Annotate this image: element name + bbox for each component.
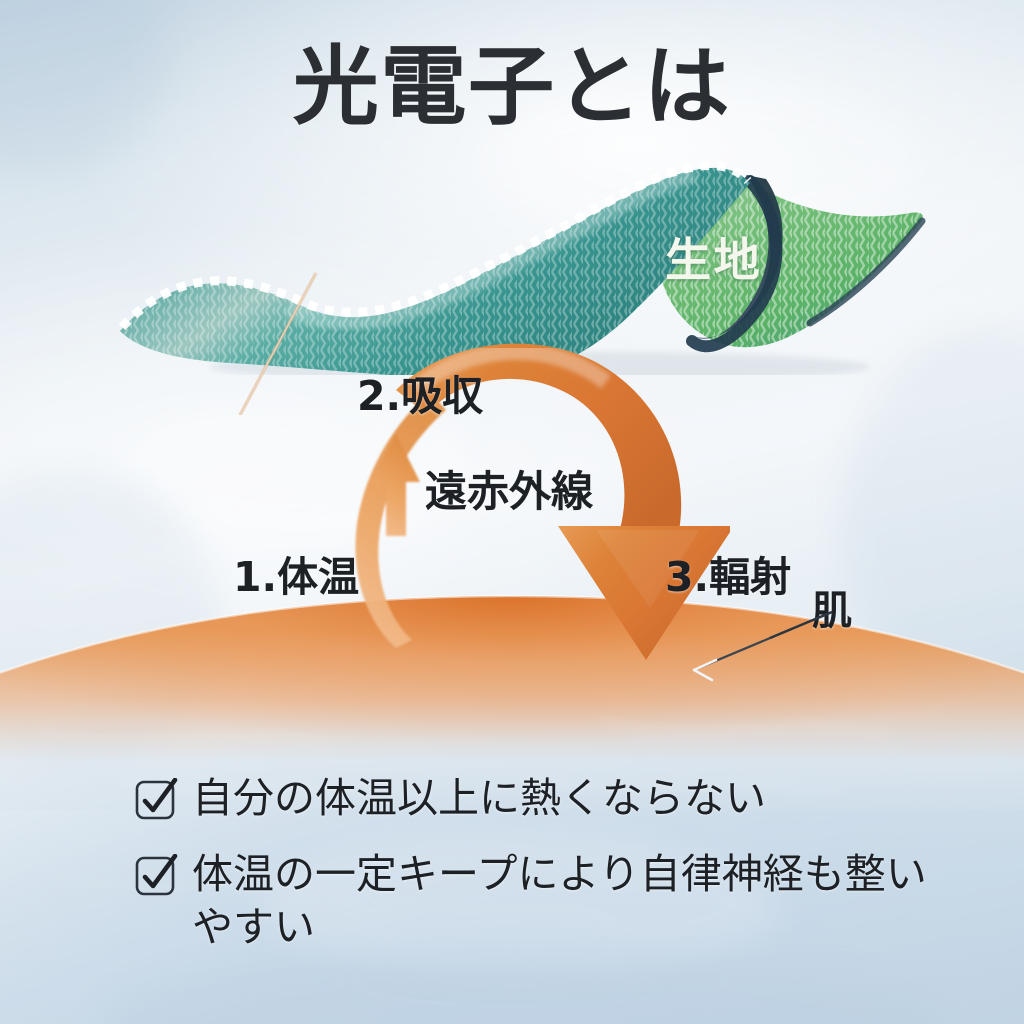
benefit-checklist: 自分の体温以上に熱くならない 体温の一定キープにより自律神経も整いやすい [134,772,934,977]
list-item-label: 自分の体温以上に熱くならない [192,772,766,824]
skin-pointer-arrow [660,608,860,688]
label-step-absorb: 2.吸収 [357,362,483,422]
label-far-infrared: 遠赤外線 [425,458,593,519]
checkbox-checked-icon [134,854,178,898]
page-title: 光電子とは [0,44,1024,130]
label-step-body-heat: 1.体温 [233,543,359,603]
label-step-radiate: 3.輻射 [665,543,791,603]
list-item: 自分の体温以上に熱くならない [134,772,934,824]
list-item: 体温の一定キープにより自律神経も整いやすい [134,848,934,953]
list-item-label: 体温の一定キープにより自律神経も整いやすい [192,848,932,953]
checkbox-checked-icon [134,778,178,822]
infographic-canvas: 光電子とは [0,0,1024,1024]
fabric-label: 生地 [665,224,763,290]
arrow-body-heat-up [356,392,447,648]
